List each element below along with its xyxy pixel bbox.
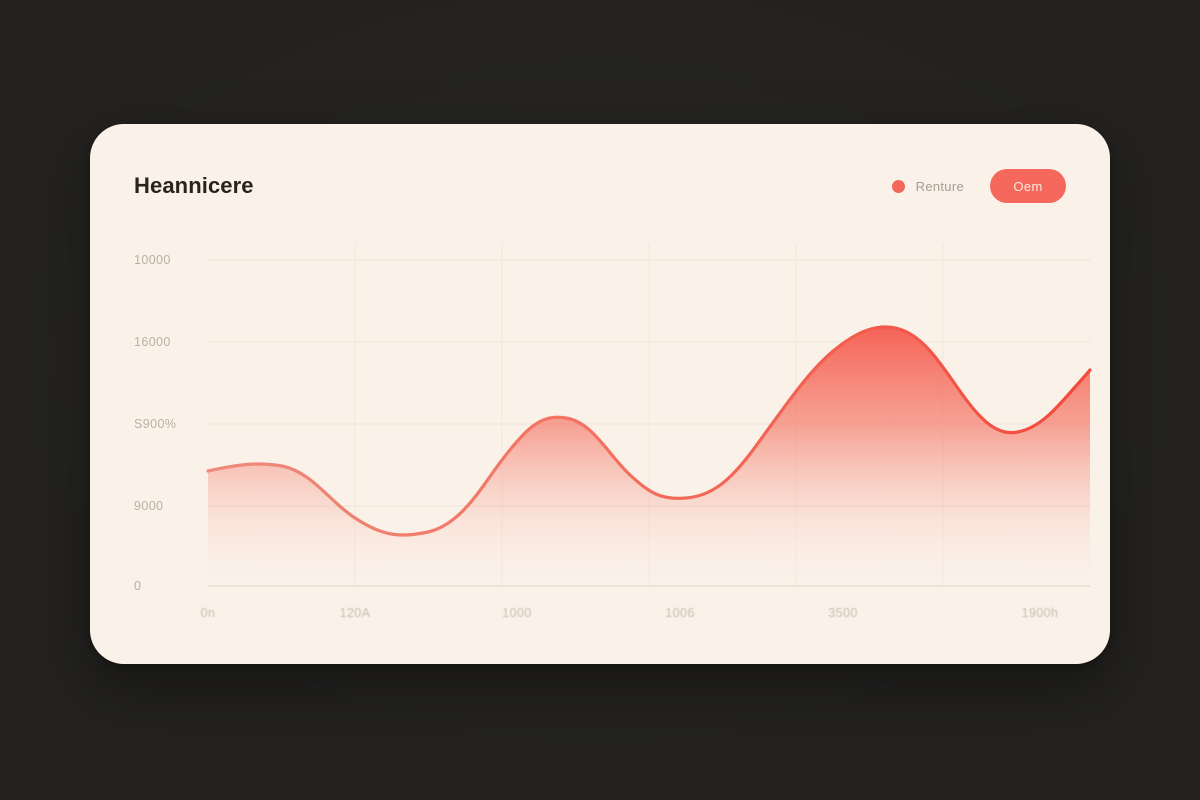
x-axis: 0n 120A 1000 1006 3500 1900h xyxy=(90,606,1110,636)
chart-card: Heannicere Renture Oem xyxy=(90,124,1110,664)
y-tick-label: S900% xyxy=(134,417,210,431)
y-tick-label: 16000 xyxy=(134,335,210,349)
y-tick-label: 0 xyxy=(134,579,210,593)
x-tick-label: 1900h xyxy=(1022,606,1059,620)
y-tick-label: 10000 xyxy=(134,253,210,267)
chart-plot-area[interactable]: 10000 16000 S900% 9000 0 0n 120A 1000 10… xyxy=(90,124,1110,664)
x-tick-label: 1000 xyxy=(502,606,531,620)
y-axis: 10000 16000 S900% 9000 0 xyxy=(134,124,210,664)
x-tick-label: 3500 xyxy=(828,606,857,620)
x-tick-label: 0n xyxy=(201,606,216,620)
x-tick-label: 120A xyxy=(340,606,371,620)
x-tick-label: 1006 xyxy=(665,606,694,620)
area-chart-svg xyxy=(90,124,1110,664)
y-tick-label: 9000 xyxy=(134,499,210,513)
